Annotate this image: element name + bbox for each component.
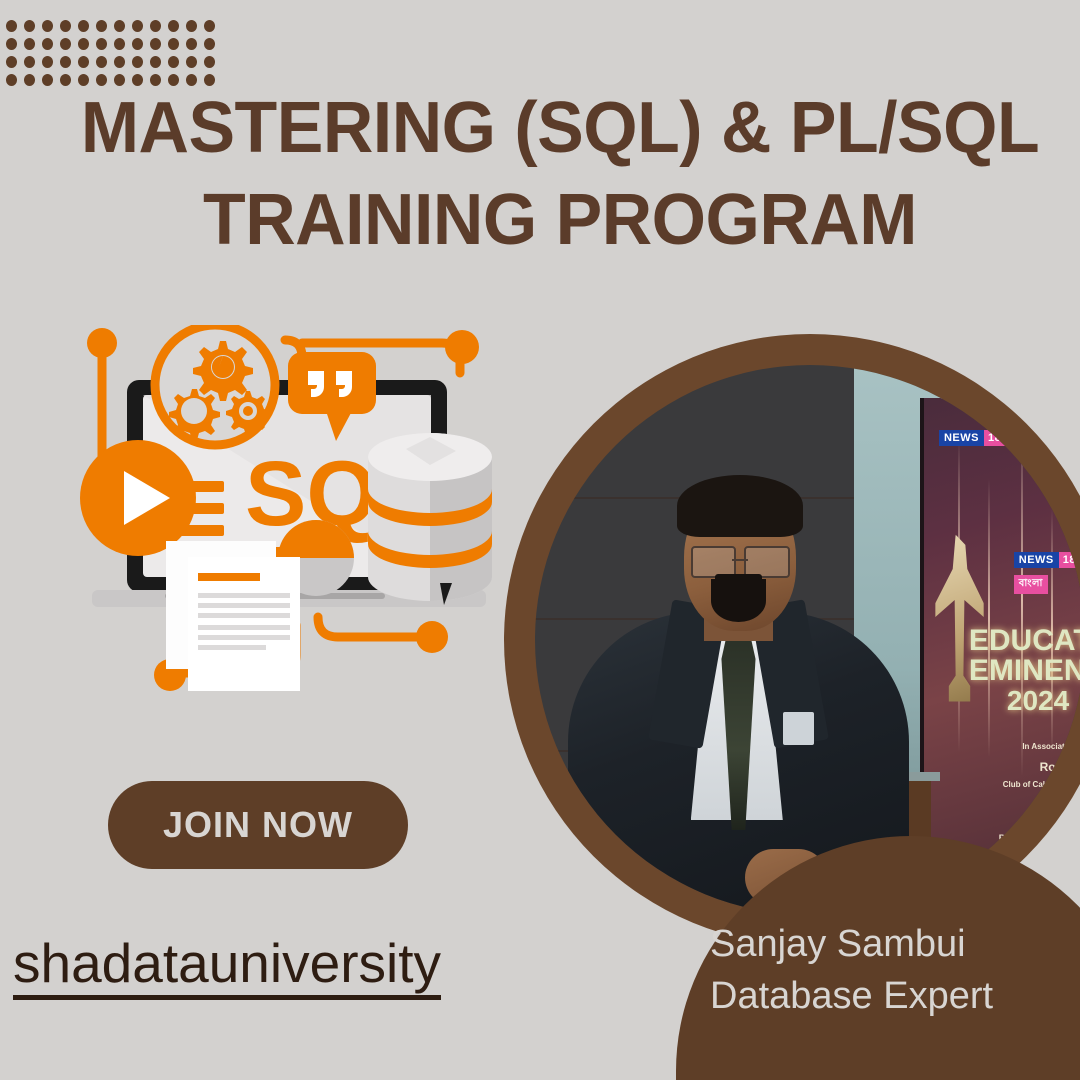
- dot: [168, 38, 179, 50]
- dot: [6, 56, 17, 68]
- photo-clip: NEWS 18 NEWS 18 বাংলা EDUCATION EMINENCE…: [535, 365, 1080, 915]
- dot: [6, 20, 17, 32]
- dot: [78, 38, 89, 50]
- powered-by-label: POWERED BY: [999, 833, 1067, 843]
- dot: [6, 74, 17, 86]
- page-title-line2: TRAINING PROGRAM: [70, 174, 1050, 266]
- page-title-line1: MASTERING (SQL) & PL/SQL: [70, 82, 1050, 174]
- gear-icon-small: [169, 389, 220, 440]
- event-screen: NEWS 18 NEWS 18 বাংলা EDUCATION EMINENCE…: [920, 398, 1080, 904]
- news-bangla-badge: বাংলা: [1014, 575, 1048, 594]
- database-cylinder-icon: [368, 433, 492, 605]
- join-now-button[interactable]: JOIN NOW: [108, 781, 408, 869]
- dot: [42, 20, 53, 32]
- handle-link[interactable]: shadatauniversity: [13, 935, 441, 1000]
- dot: [204, 20, 215, 32]
- dot: [42, 38, 53, 50]
- dot: [114, 56, 125, 68]
- dot: [60, 38, 71, 50]
- news-logo-badge: 18: [984, 430, 1005, 446]
- dot: [186, 56, 197, 68]
- node-dot: [87, 328, 117, 358]
- speaker-title: Database Expert: [710, 970, 1080, 1022]
- dot: [78, 20, 89, 32]
- glasses-icon: [691, 546, 790, 574]
- dot: [150, 38, 161, 50]
- speaker-name: Sanjay Sambui: [710, 918, 1080, 970]
- dot: [150, 20, 161, 32]
- dot: [6, 38, 17, 50]
- node-dot: [445, 330, 479, 364]
- dot: [114, 38, 125, 50]
- dot: [186, 38, 197, 50]
- dot: [96, 56, 107, 68]
- dot: [60, 56, 71, 68]
- gear-icon: [193, 341, 253, 401]
- dot: [24, 38, 35, 50]
- event-title-line1: EDUCATION: [969, 626, 1080, 657]
- play-button-icon: [80, 440, 196, 556]
- dot: [42, 74, 53, 86]
- event-year: 2024: [1007, 687, 1080, 716]
- dot: [96, 38, 107, 50]
- news-logo-secondary: NEWS: [1014, 552, 1059, 568]
- dot-grid-decoration: [6, 20, 222, 88]
- dot: [168, 56, 179, 68]
- event-title-line2: EMINENCE: [969, 656, 1080, 687]
- sql-illustration: SQL: [70, 325, 520, 715]
- org-line2: Club of Calcutta Inner City: [995, 780, 1080, 789]
- dot: [132, 56, 143, 68]
- org-line1: Rotary: [1006, 760, 1080, 774]
- dot: [60, 20, 71, 32]
- news-logo-badge-2: 18: [1059, 552, 1080, 568]
- dot: [114, 20, 125, 32]
- dot: [186, 20, 197, 32]
- dot: [150, 56, 161, 68]
- gear-icon-tiny: [226, 391, 270, 435]
- dot: [24, 56, 35, 68]
- news-logo-primary: NEWS: [939, 430, 984, 446]
- node-dot: [416, 621, 448, 653]
- dot: [42, 56, 53, 68]
- document-icon: [166, 541, 300, 691]
- dot: [24, 74, 35, 86]
- assoc-line: In Association with: [1006, 742, 1080, 751]
- dot: [132, 20, 143, 32]
- dot: [204, 38, 215, 50]
- poster-canvas: MASTERING (SQL) & PL/SQL TRAINING PROGRA…: [0, 0, 1080, 1080]
- dot: [168, 20, 179, 32]
- dot: [132, 38, 143, 50]
- dot: [204, 56, 215, 68]
- page-title: MASTERING (SQL) & PL/SQL TRAINING PROGRA…: [70, 82, 1050, 266]
- dot: [24, 20, 35, 32]
- dot: [96, 20, 107, 32]
- dot: [78, 56, 89, 68]
